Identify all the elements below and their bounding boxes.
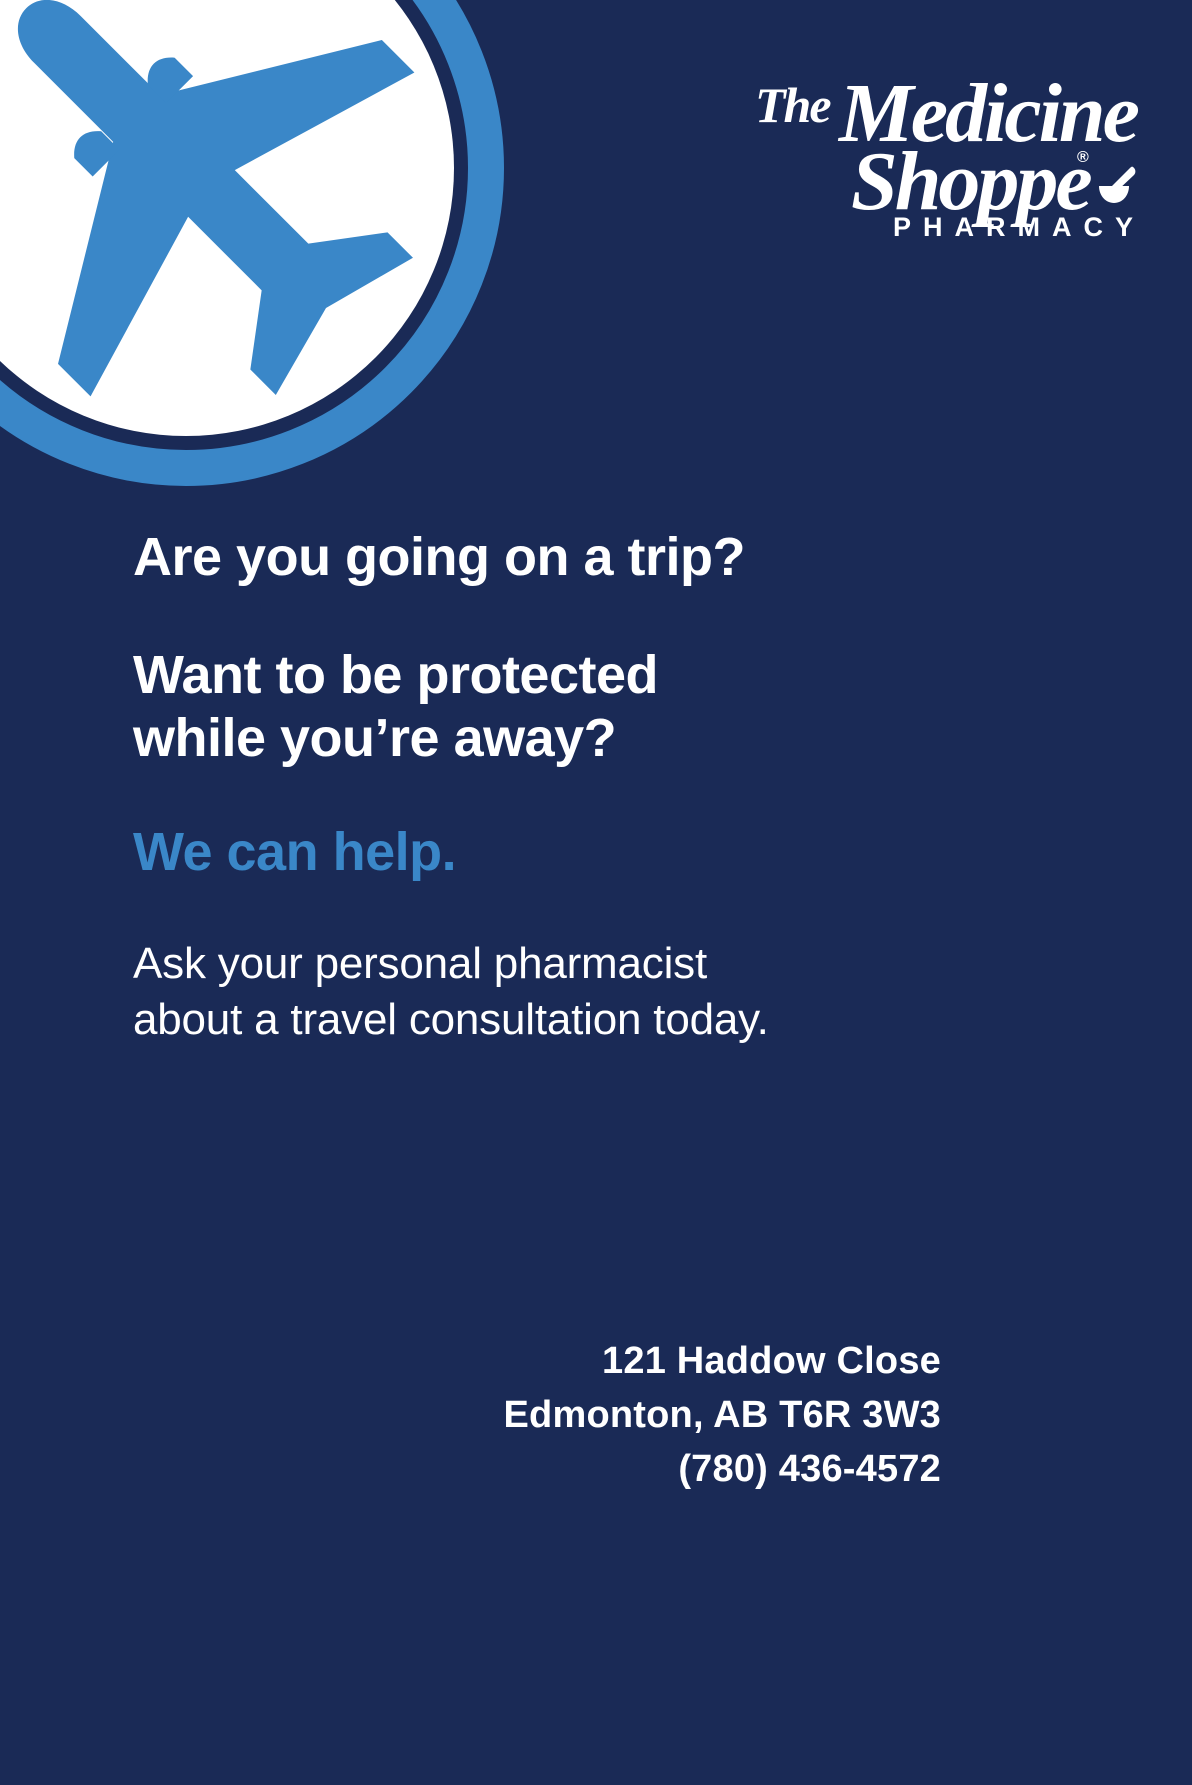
headline-secondary-line-2: while you’re away? (133, 707, 1013, 770)
logo-script-wordmark: The Medicine Shoppe ® PHARMACY (747, 78, 1147, 218)
store-phone-number[interactable]: (780) 436-4572 (504, 1443, 941, 1497)
address-street: 121 Haddow Close (504, 1335, 941, 1389)
mortar-and-pestle-icon (1093, 164, 1139, 210)
headline-accent: We can help. (133, 823, 1013, 882)
headline-secondary-line-1: Want to be protected (133, 644, 1013, 707)
body-copy-line-2: about a travel consultation today. (133, 992, 1013, 1048)
logo-word-the: The (755, 80, 830, 130)
headline-primary: Are you going on a trip? (133, 528, 1013, 586)
headline-secondary: Want to be protected while you’re away? (133, 644, 1013, 770)
airplane-badge (0, 0, 504, 486)
logo-tagline-pharmacy: PHARMACY (893, 212, 1145, 243)
registered-trademark-mark: ® (1077, 150, 1089, 166)
body-copy: Ask your personal pharmacist about a tra… (133, 936, 1013, 1049)
medicine-shoppe-logo: The Medicine Shoppe ® PHARMACY (747, 78, 1147, 218)
store-address-block: 121 Haddow Close Edmonton, AB T6R 3W3 (7… (504, 1335, 941, 1497)
address-city-province-postal: Edmonton, AB T6R 3W3 (504, 1389, 941, 1443)
body-copy-line-1: Ask your personal pharmacist (133, 936, 1013, 992)
poster-canvas: The Medicine Shoppe ® PHARMACY Are you g… (0, 0, 1192, 1785)
copy-block: Are you going on a trip? Want to be prot… (133, 528, 1013, 1049)
